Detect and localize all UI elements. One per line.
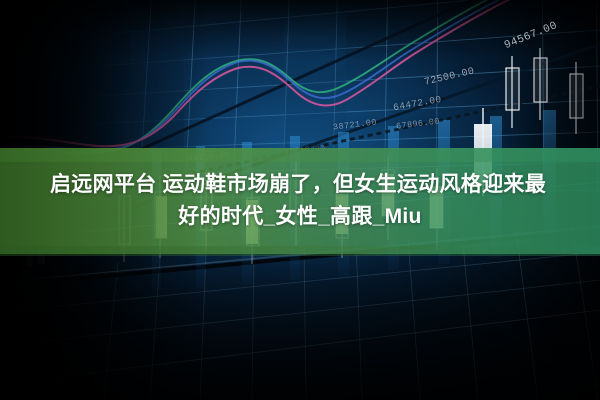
screenshot-canvas: 94567.0072500.0064472.0038721.0067896.00… — [0, 0, 600, 400]
headline-line-1: 启远网平台 运动鞋市场崩了，但女生运动风格迎来最 — [50, 171, 546, 199]
headline-overlay: 启远网平台 运动鞋市场崩了，但女生运动风格迎来最 好的时代_女性_高跟_Miu — [0, 148, 600, 254]
headline-line-2: 好的时代_女性_高跟_Miu — [178, 203, 421, 231]
